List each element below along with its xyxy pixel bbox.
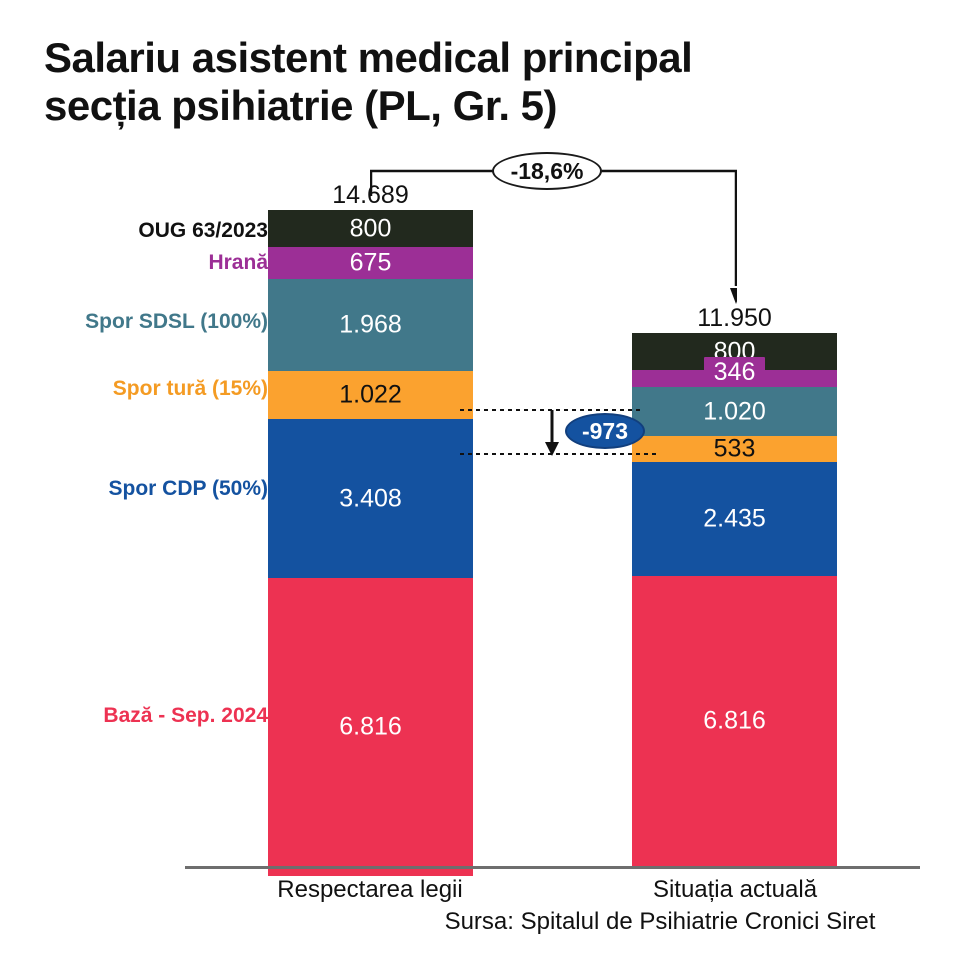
x-axis-line [185, 866, 920, 869]
bar-segment-spor-sdsl-right[interactable]: 1.020 [632, 387, 837, 436]
stacked-bar-situatia-actuala[interactable]: 800 346 1.020 533 2.435 6.816 [632, 333, 837, 866]
x-tick-label-situatia-actuala: Situația actuală [575, 876, 895, 904]
page-title: Salariu asistent medical principal secți… [44, 34, 924, 130]
chart-container: Salariu asistent medical principal secți… [0, 0, 960, 960]
bar-segment-value-spor-sdsl-right: 1.020 [632, 399, 837, 424]
legend-label-hrana: Hrană [208, 252, 268, 273]
legend-label-spor-sdsl: Spor SDSL (100%) [85, 311, 268, 332]
bar-segment-value-baza-left: 6.816 [268, 715, 473, 740]
bar-segment-hrana-right[interactable]: 346 [632, 370, 837, 387]
legend-label-spor-tura: Spor tură (15%) [113, 378, 268, 399]
delta-badge: -973 [565, 413, 645, 449]
bar-segment-value-spor-tura-left: 1.022 [268, 383, 473, 408]
bar-segment-value-spor-cdp-right: 2.435 [632, 507, 837, 532]
bar-segment-baza-right[interactable]: 6.816 [632, 576, 837, 866]
bar-segment-baza-left[interactable]: 6.816 [268, 578, 473, 876]
bar-segment-value-baza-right: 6.816 [632, 709, 837, 734]
total-label-right: 11.950 [632, 306, 837, 331]
source-note: Sursa: Spitalul de Psihiatrie Cronici Si… [400, 908, 920, 936]
bar-segment-value-hrana-right: 346 [632, 360, 837, 385]
page-title-line-1: Salariu asistent medical principal [44, 34, 924, 82]
bar-segment-spor-tura-left[interactable]: 1.022 [268, 371, 473, 419]
legend-label-spor-cdp: Spor CDP (50%) [109, 478, 268, 499]
bar-segment-spor-cdp-right[interactable]: 2.435 [632, 462, 837, 576]
legend-label-oug: OUG 63/2023 [138, 220, 268, 241]
bar-segment-spor-cdp-left[interactable]: 3.408 [268, 419, 473, 578]
bar-segment-value-spor-tura-right: 533 [632, 437, 837, 462]
stacked-bar-respectarea-legii[interactable]: 800 675 1.968 1.022 3.408 6.816 [268, 210, 473, 876]
bar-segment-value-spor-cdp-left: 3.408 [268, 486, 473, 511]
legend-label-baza: Bază - Sep. 2024 [103, 705, 268, 726]
bar-segment-spor-tura-right[interactable]: 533 [632, 436, 837, 462]
bar-segment-value-spor-sdsl-left: 1.968 [268, 313, 473, 338]
x-tick-label-respectarea-legii: Respectarea legii [210, 876, 530, 904]
percent-change-badge: -18,6% [492, 152, 602, 190]
page-title-line-2: secția psihiatrie (PL, Gr. 5) [44, 82, 924, 130]
bar-segment-value-hrana-right-chip: 346 [704, 357, 766, 388]
